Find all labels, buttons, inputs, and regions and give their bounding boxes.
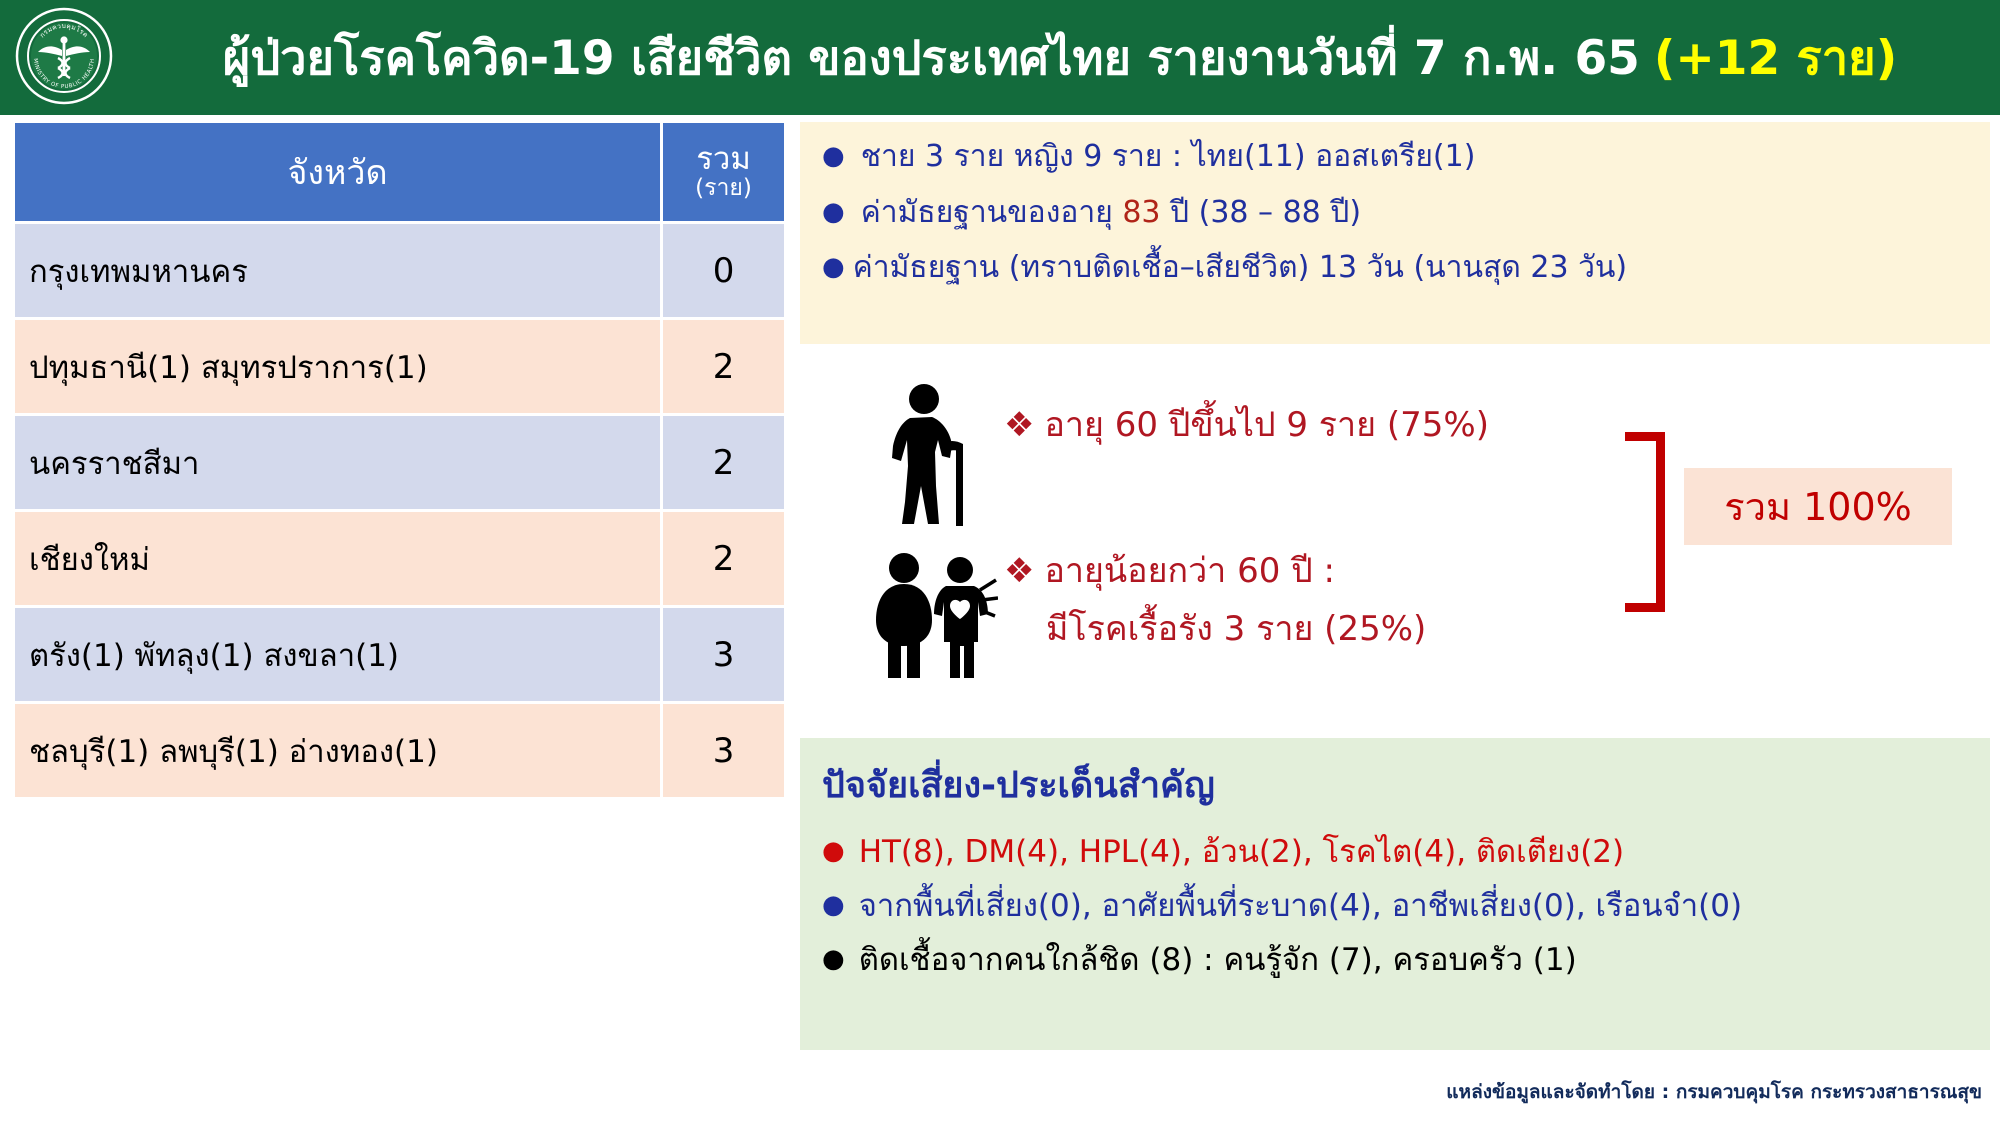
age-group-60-plus-label: อายุ 60 ปีขึ้นไป 9 ราย (75%) — [1044, 405, 1489, 445]
grouping-bracket-icon — [1625, 432, 1665, 612]
risk-item-text: จากพื้นที่เสี่ยง(0), อาศัยพื้นที่ระบาด(4… — [859, 889, 1742, 923]
ministry-of-public-health-seal-icon: กรมควบคุมโรค MINISTRY OF PUBLIC HEALTH — [14, 6, 114, 106]
obese-and-heart-disease-person-icon — [868, 550, 998, 684]
risk-item-comorbidities: ● HT(8), DM(4), HPL(4), อ้วน(2), โรคไต(4… — [822, 835, 1980, 869]
cell-total: 2 — [663, 320, 784, 413]
cell-total: 2 — [663, 416, 784, 509]
median-age-label: ค่ามัธยฐานของอายุ — [861, 195, 1123, 230]
bullet-icon: ● — [822, 943, 845, 976]
new-deaths-count: (+12 ราย) — [1654, 20, 1897, 95]
bullet-icon: ● — [822, 251, 845, 284]
cell-total: 3 — [663, 608, 784, 701]
age-group-60-plus-text: ❖อายุ 60 ปีขึ้นไป 9 ราย (75%) — [1004, 382, 1489, 448]
age-group-under-60-row: ❖อายุน้อยกว่า 60 ปี : มีโรคเรื้อรัง 3 รา… — [868, 550, 1426, 684]
bullet-icon: ● — [822, 835, 845, 868]
summary-line-median-age: ● ค่ามัธยฐานของอายุ 83 ปี (38 – 88 ปี) — [822, 196, 1980, 230]
diamond-bullet-icon: ❖ — [1004, 551, 1034, 591]
risk-item-text: HT(8), DM(4), HPL(4), อ้วน(2), โรคไต(4),… — [859, 835, 1624, 869]
bullet-icon: ● — [822, 140, 845, 173]
summary-line-median-days: ● ค่ามัธยฐาน (ทราบติดเชื้อ–เสียชีวิต) 13… — [822, 251, 1980, 285]
table-row: กรุงเทพมหานคร 0 — [15, 224, 784, 317]
cell-province: ชลบุรี(1) ลพบุรี(1) อ่างทอง(1) — [15, 704, 660, 797]
age-group-under-60-text: ❖อายุน้อยกว่า 60 ปี : มีโรคเรื้อรัง 3 รา… — [1004, 550, 1426, 651]
diamond-bullet-icon: ❖ — [1004, 405, 1034, 445]
table-row: ตรัง(1) พัทลุง(1) สงขลา(1) 3 — [15, 608, 784, 701]
cell-province: ปทุมธานี(1) สมุทรปราการ(1) — [15, 320, 660, 413]
summary-text: ค่ามัธยฐาน (ทราบติดเชื้อ–เสียชีวิต) 13 ว… — [853, 251, 1627, 285]
total-percentage-badge: รวม 100% — [1684, 468, 1952, 545]
cell-province: นครราชสีมา — [15, 416, 660, 509]
source-credit: แหล่งข้อมูลและจัดทำโดย : กรมควบคุมโรค กร… — [1446, 1077, 1982, 1107]
page-title-main: ผู้ป่วยโรคโควิด-19 เสียชีวิต ของประเทศไท… — [223, 20, 1640, 95]
bullet-icon: ● — [822, 196, 845, 229]
median-age-value: 83 — [1122, 195, 1160, 230]
demographics-summary-panel: ● ชาย 3 ราย หญิง 9 ราย : ไทย(11) ออสเตรี… — [800, 122, 1990, 344]
table-row: นครราชสีมา 2 — [15, 416, 784, 509]
risk-factors-panel: ปัจจัยเสี่ยง-ประเด็นสำคัญ ● HT(8), DM(4)… — [800, 738, 1990, 1050]
cell-total: 3 — [663, 704, 784, 797]
summary-line-sex-nationality: ● ชาย 3 ราย หญิง 9 ราย : ไทย(11) ออสเตรี… — [822, 140, 1980, 174]
table-row: เชียงใหม่ 2 — [15, 512, 784, 605]
page-title: ผู้ป่วยโรคโควิด-19 เสียชีวิต ของประเทศไท… — [130, 0, 1990, 115]
risk-item-exposure-areas: ● จากพื้นที่เสี่ยง(0), อาศัยพื้นที่ระบาด… — [822, 889, 1980, 923]
risk-item-text: ติดเชื้อจากคนใกล้ชิด (8) : คนรู้จัก (7),… — [859, 943, 1577, 977]
page-header: กรมควบคุมโรค MINISTRY OF PUBLIC HEALTH ผ… — [0, 0, 2000, 115]
bullet-icon: ● — [822, 889, 845, 922]
elderly-person-with-cane-icon — [880, 382, 990, 536]
column-header-province: จังหวัด — [15, 123, 660, 221]
table-row: ชลบุรี(1) ลพบุรี(1) อ่างทอง(1) 3 — [15, 704, 784, 797]
table-header-row: จังหวัด รวม (ราย) — [15, 123, 784, 221]
cell-province: กรุงเทพมหานคร — [15, 224, 660, 317]
cell-province: เชียงใหม่ — [15, 512, 660, 605]
table-row: ปทุมธานี(1) สมุทรปราการ(1) 2 — [15, 320, 784, 413]
total-percentage-label: รวม 100% — [1724, 476, 1912, 537]
cell-province: ตรัง(1) พัทลุง(1) สงขลา(1) — [15, 608, 660, 701]
summary-text: ชาย 3 ราย หญิง 9 ราย : ไทย(11) ออสเตรีย(… — [861, 140, 1476, 174]
column-header-total: รวม (ราย) — [663, 123, 784, 221]
age-group-under-60-chronic-label: มีโรคเรื้อรัง 3 ราย (25%) — [1046, 608, 1426, 652]
age-group-under-60-label: อายุน้อยกว่า 60 ปี : — [1044, 551, 1335, 591]
province-death-table: จังหวัด รวม (ราย) กรุงเทพมหานคร 0 ปทุมธา… — [12, 120, 787, 800]
cell-total: 0 — [663, 224, 784, 317]
age-group-60-plus-row: ❖อายุ 60 ปีขึ้นไป 9 ราย (75%) — [880, 382, 1489, 536]
cell-total: 2 — [663, 512, 784, 605]
median-age-range: ปี (38 – 88 ปี) — [1161, 195, 1362, 230]
risk-item-close-contact: ● ติดเชื้อจากคนใกล้ชิด (8) : คนรู้จัก (7… — [822, 943, 1980, 977]
risk-factors-title: ปัจจัยเสี่ยง-ประเด็นสำคัญ — [822, 756, 1980, 813]
summary-text: ค่ามัธยฐานของอายุ 83 ปี (38 – 88 ปี) — [861, 196, 1361, 230]
